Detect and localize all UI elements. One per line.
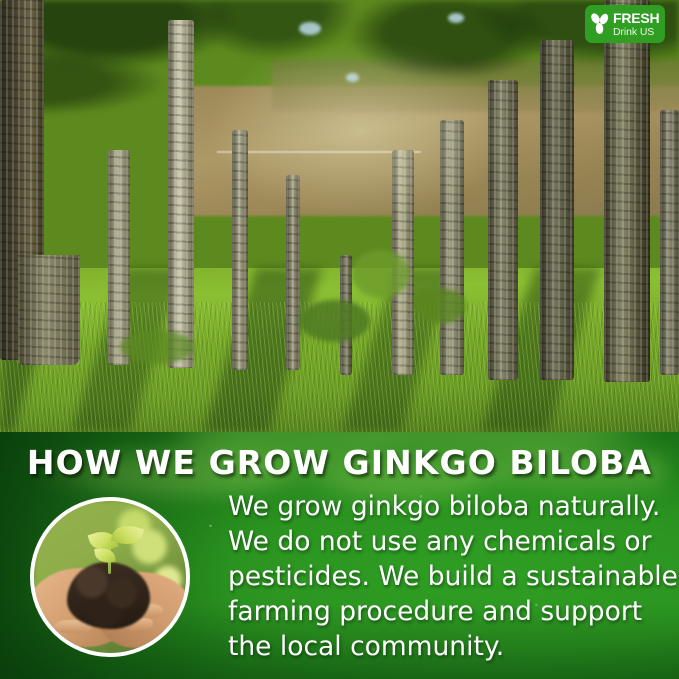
tree-trunk	[604, 0, 650, 382]
shrub	[300, 300, 370, 342]
forest-photo: FRESH Drink US	[0, 0, 679, 432]
tree-trunk	[108, 150, 130, 365]
shrub	[414, 288, 466, 324]
body-line: the local community.	[228, 629, 666, 664]
forest-background	[0, 0, 679, 432]
body-line: We grow ginkgo biloba naturally.	[228, 489, 666, 524]
tree-trunk	[286, 175, 300, 370]
fresh-drink-us-logo[interactable]: FRESH Drink US	[585, 5, 665, 43]
sky-gap-icon	[448, 13, 464, 23]
logo-line-2: Drink US	[613, 27, 659, 38]
product-infographic-card: FRESH Drink US HOW WE GROW GINKGO BILOBA…	[0, 0, 679, 679]
tree-trunk	[540, 40, 574, 380]
tree-trunk	[488, 80, 518, 380]
sky-gap-icon	[299, 22, 321, 35]
tree-trunk	[660, 110, 679, 375]
how-we-grow-panel: HOW WE GROW GINKGO BILOBA We grow ginkgo…	[0, 432, 679, 679]
body-line: pesticides. We build a sustainable	[228, 559, 666, 594]
panel-body-text: We grow ginkgo biloba naturally. We do n…	[228, 489, 666, 664]
panel-headline: HOW WE GROW GINKGO BILOBA	[0, 443, 679, 482]
body-line: farming procedure and support	[228, 594, 666, 629]
canopy-shadows	[0, 0, 679, 242]
logo-line-1: FRESH	[613, 11, 659, 25]
tree-trunk	[18, 255, 80, 365]
three-leaf-icon	[589, 12, 610, 36]
shrub	[352, 250, 410, 298]
tree-trunk	[232, 130, 248, 370]
tree-trunk	[440, 120, 464, 375]
shrub	[120, 330, 194, 364]
tree-trunk	[168, 20, 194, 368]
body-line: We do not use any chemicals or	[228, 524, 666, 559]
hands-holding-seedling-photo	[30, 497, 190, 657]
logo-wordmark: FRESH Drink US	[613, 11, 659, 38]
